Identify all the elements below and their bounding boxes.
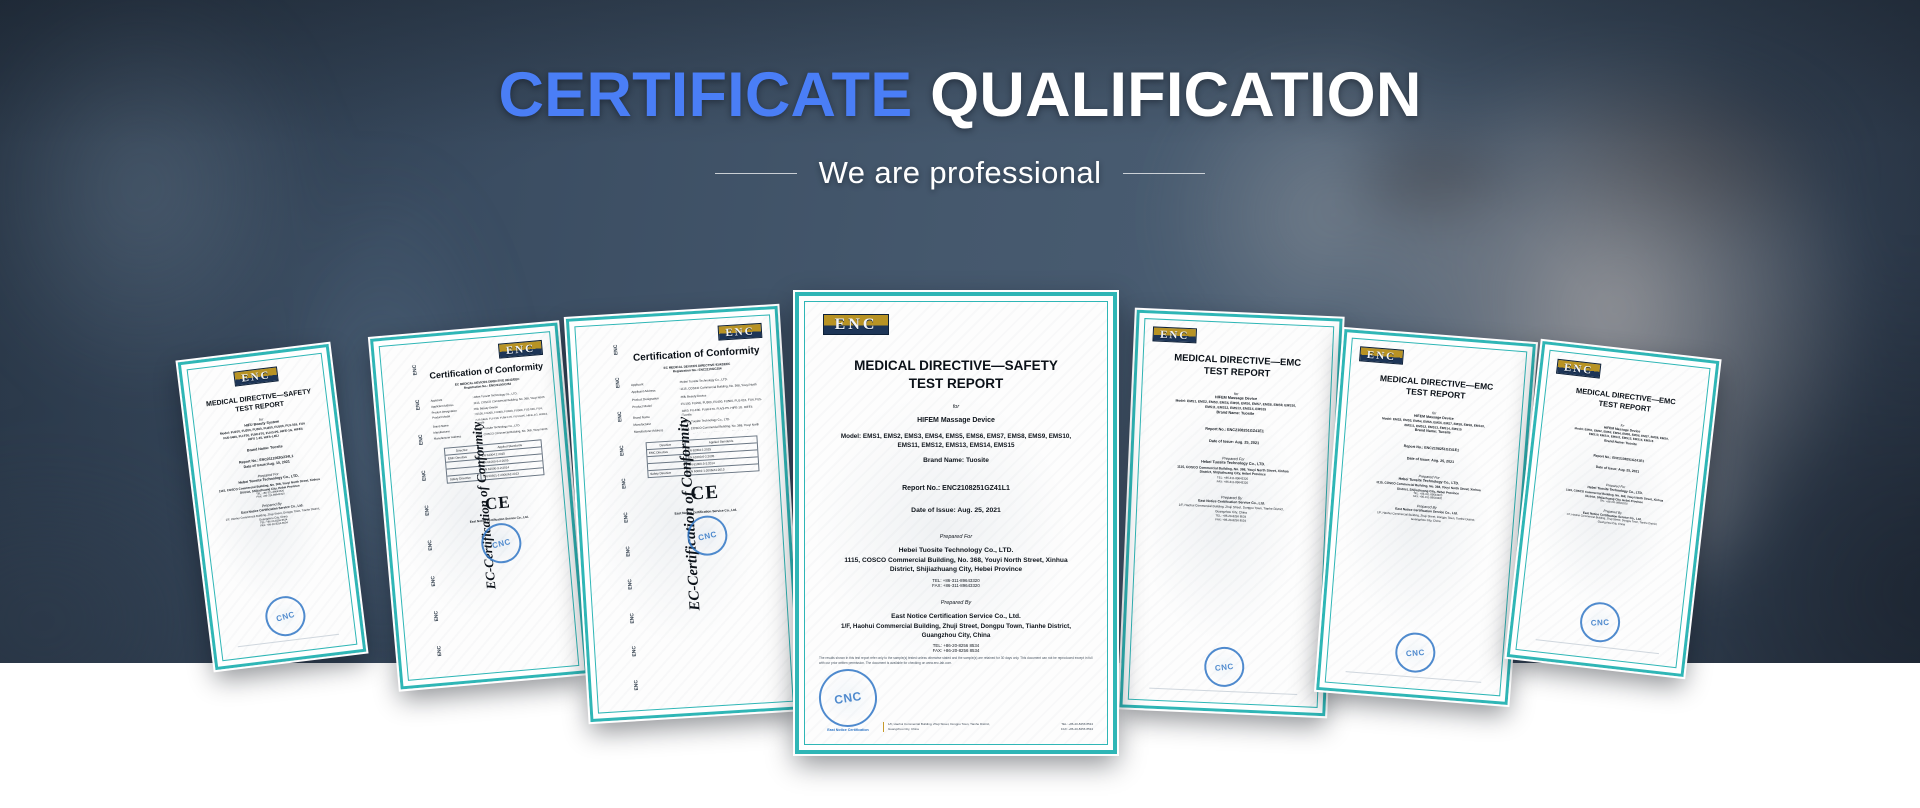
certificate-report-no: Report No.: ENC2108251GZ41E1 (1593, 454, 1644, 465)
hero-subtitle-block: We are professional (0, 155, 1920, 191)
certificate-issuer-address-1: 1/F, Haohui Commercial Building, Zhuji S… (841, 622, 1071, 631)
conformity-note (496, 483, 497, 488)
enc-logo-icon (1152, 326, 1197, 343)
enc-logo-icon (1359, 346, 1404, 364)
certificate-title-line2: TEST REPORT (909, 375, 1004, 393)
enc-logo-icon (498, 340, 543, 359)
certificate-fax: FAX: +86-311-89643320 (932, 583, 980, 588)
certificate-card-emc-right-2[interactable]: MEDICAL DIRECTIVE—EMC TEST REPORT for HI… (1316, 329, 1536, 705)
certificate-brand: Brand Name: Tuosite (247, 444, 283, 454)
certificate-issuer-address-2: Guangzhou City, China (922, 631, 991, 640)
certificate-issue-date: Date of Issue: Aug. 25, 2021 (911, 506, 1001, 516)
footer-fax: FAX: +86-20-8256 8534 (1061, 727, 1093, 732)
enc-logo-icon (718, 323, 763, 341)
certificate-fax: FAX: +86-311-89643320 (1217, 480, 1249, 485)
certificate-hero-banner: CERTIFICATE QUALIFICATION We are profess… (0, 0, 1920, 808)
footer-divider (1346, 671, 1482, 683)
title-rest: QUALIFICATION (912, 60, 1421, 130)
subtitle-rule-right (1123, 173, 1205, 174)
conformity-detail-rows: Applicant: Hebei Tuosite Technology Co.,… (631, 374, 768, 437)
certificate-for-label: for (953, 404, 959, 410)
certification-stamp: CNC (815, 665, 881, 731)
subtitle-rule-left (715, 173, 797, 174)
row-label: Manufacturer Address (634, 426, 683, 437)
certificate-issue-date: Date of Issue: Aug. 25, 2021 (1596, 465, 1640, 475)
certificate-card-emc-right-1[interactable]: MEDICAL DIRECTIVE—EMC TEST REPORT for HI… (1119, 310, 1342, 717)
conformity-detail-rows: Applicant: Hebei Tuosite Technology Co.,… (430, 388, 549, 442)
certificate-issuer-fax: FAX: +86-20-8256 8534 (933, 648, 980, 653)
certificate-card-conformity-left[interactable]: EC-Certification of Conformity ENC ENCEN… (370, 322, 588, 689)
certificate-models-1: Model: EMS1, EMS2, EMS3, EMS4, EMS5, EMS… (841, 432, 1071, 441)
certificate-report-no: Report No.: ENC2108251GZ41L1 (902, 484, 1010, 494)
certificate-title-line2: TEST REPORT (1204, 366, 1271, 381)
certificate-card-conformity-mid[interactable]: EC-Certification of Conformity ENC ENCEN… (566, 306, 802, 722)
standards-table: DirectiveApplied Standards EMC Directive… (645, 435, 760, 478)
certificate-company: Hebei Tuosite Technology Co., LTD. (899, 546, 1014, 556)
enc-logo-icon (233, 366, 279, 386)
certificate-prepared-for-label: Prepared For (940, 534, 972, 540)
certification-stamp: CNC (261, 591, 310, 640)
certificate-card-safety-left[interactable]: MEDICAL DIRECTIVE—SAFETY TEST REPORT for… (178, 344, 367, 670)
certificate-footer-phone: TEL: +86-20-8256 8534 FAX: +86-20-8256 8… (1061, 722, 1093, 732)
certificate-prepared-by-label: Prepared By (941, 600, 972, 606)
certification-stamp: CNC (1394, 631, 1437, 674)
certificate-footer-contact: 1/F, Haohui Commercial Building, Zhuji S… (883, 722, 1055, 732)
certificate-models-2: EMS11, EMS12, EMS13, EMS14, EMS15 (898, 441, 1015, 450)
certificate-address-2: District, Shijiazhuang City, Hebei Provi… (890, 565, 1022, 575)
certificate-issuer-fax: FAX: +86-20-8256 8534 (1215, 517, 1246, 522)
certification-stamp-label: East Notice Certification (827, 728, 869, 732)
certificate-brand: Brand Name: Tuosite (923, 456, 989, 466)
certificate-address-1: 1115, COSCO Commercial Building, No. 368… (844, 556, 1067, 566)
certificate-brand: Brand Name: Tuosite (1216, 410, 1254, 417)
hero-subtitle: We are professional (819, 155, 1102, 191)
enc-strip-text: ENC (411, 364, 418, 375)
certificate-disclaimer: The results shown in this test report re… (819, 656, 1093, 666)
certificate-device: HIFEM Massage Device (917, 416, 995, 426)
certification-stamp: CNC (1579, 601, 1621, 643)
certificate-issuer: East Notice Certification Service Co., L… (891, 612, 1021, 622)
certification-stamp: CNC (1202, 645, 1246, 689)
certificate-card-emc-right-3[interactable]: MEDICAL DIRECTIVE—EMC TEST REPORT for HI… (1507, 341, 1720, 677)
hero-title-block: CERTIFICATE QUALIFICATION (0, 62, 1920, 128)
certificate-report-no: Report No.: ENC2108251GZ41E1 (1205, 427, 1264, 435)
enc-logo-icon (1556, 359, 1601, 379)
certificate-issue-date: Date of Issue: Aug. 25, 2021 (1209, 439, 1259, 447)
certificate-issue-date: Date of Issue: Aug. 25, 2021 (1407, 456, 1455, 465)
enc-strip-text: ENC (613, 344, 620, 355)
footer-divider (1149, 688, 1297, 695)
certificate-title-line1: MEDICAL DIRECTIVE—SAFETY (854, 357, 1058, 375)
conformity-heading: Certification of Conformity (633, 344, 760, 365)
title-highlight: CERTIFICATE (498, 60, 912, 130)
certificate-report-no: Report No.: ENC2108251GZ41E1 (1403, 445, 1459, 455)
standards-table: DirectiveApplied Standards EMC Directive… (444, 439, 544, 483)
footer-city: Guangzhou City, China (888, 727, 1055, 732)
certificate-card-safety-front[interactable]: MEDICAL DIRECTIVE—SAFETY TEST REPORT for… (795, 292, 1117, 754)
enc-logo-icon (823, 314, 889, 335)
page-title: CERTIFICATE QUALIFICATION (0, 62, 1920, 128)
